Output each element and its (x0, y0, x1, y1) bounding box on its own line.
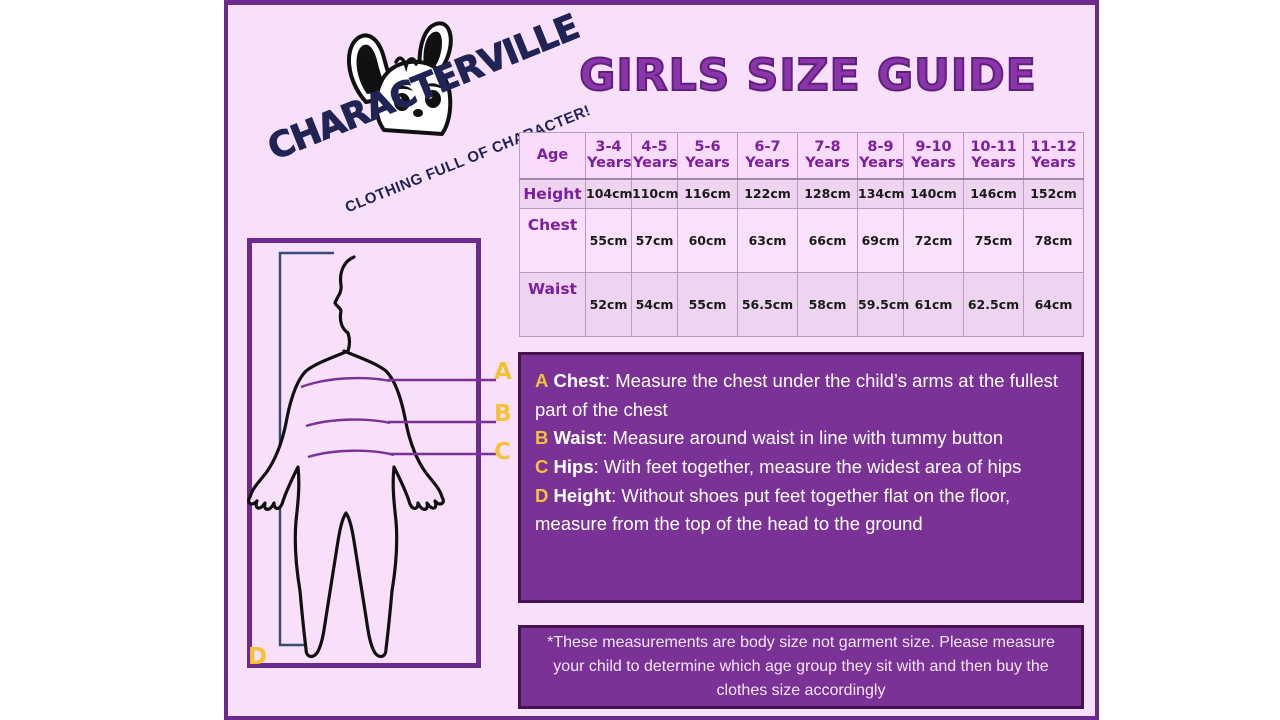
brand-logo: CHARACTERVILLE CLOTHING FULL OF CHARACTE… (278, 10, 558, 220)
cell-chest-2: 60cm (678, 209, 738, 273)
cell-waist-3: 56.5cm (738, 273, 798, 337)
cell-chest-5: 69cm (858, 209, 904, 273)
marker-label-a: A (494, 359, 512, 385)
cell-waist-7: 62.5cm (964, 273, 1024, 337)
column-header-6-7: 6-7 Years (738, 133, 798, 179)
marker-label-c: C (494, 439, 511, 465)
instruction-text-chest: : Measure the chest under the child’s ar… (535, 370, 1058, 420)
column-header-9-10: 9-10 Years (904, 133, 964, 179)
marker-label-b: B (494, 401, 512, 427)
instruction-text-waist: : Measure around waist in line with tumm… (602, 427, 1003, 448)
cell-chest-1: 57cm (632, 209, 678, 273)
column-header-7-8: 7-8 Years (798, 133, 858, 179)
instruction-term-waist: Waist (554, 427, 603, 448)
column-header-3-4: 3-4 Years (586, 133, 632, 179)
column-header-10-11: 10-11 Years (964, 133, 1024, 179)
cell-chest-3: 63cm (738, 209, 798, 273)
cell-height-5: 134cm (858, 179, 904, 209)
measurement-instructions-box: A Chest: Measure the chest under the chi… (518, 352, 1084, 603)
instruction-key-c: C (535, 456, 548, 477)
instruction-text-hips: : With feet together, measure the widest… (594, 456, 1022, 477)
cell-chest-0: 55cm (586, 209, 632, 273)
instruction-waist: B Waist: Measure around waist in line wi… (535, 424, 1067, 453)
cell-waist-8: 64cm (1024, 273, 1084, 337)
cell-height-7: 146cm (964, 179, 1024, 209)
cell-height-0: 104cm (586, 179, 632, 209)
cell-waist-5: 59.5cm (858, 273, 904, 337)
table-row-chest: Chest 55cm 57cm 60cm 63cm 66cm 69cm 72cm… (520, 209, 1084, 273)
cell-chest-8: 78cm (1024, 209, 1084, 273)
cell-waist-2: 55cm (678, 273, 738, 337)
column-header-age: Age (520, 133, 586, 179)
cell-chest-6: 72cm (904, 209, 964, 273)
instruction-key-a: A (535, 370, 548, 391)
page-title: GIRLS SIZE GUIDE (528, 50, 1088, 101)
instruction-key-b: B (535, 427, 548, 448)
column-header-11-12: 11-12 Years (1024, 133, 1084, 179)
cell-height-2: 116cm (678, 179, 738, 209)
marker-label-d: D (248, 644, 267, 670)
instruction-term-hips: Hips (554, 456, 594, 477)
size-guide-poster: CHARACTERVILLE CLOTHING FULL OF CHARACTE… (224, 0, 1099, 720)
cell-waist-0: 52cm (586, 273, 632, 337)
table-row-waist: Waist 52cm 54cm 55cm 56.5cm 58cm 59.5cm … (520, 273, 1084, 337)
footnote-text: *These measurements are body size not ga… (537, 631, 1065, 703)
instruction-term-chest: Chest (554, 370, 605, 391)
cell-chest-7: 75cm (964, 209, 1024, 273)
column-header-8-9: 8-9 Years (858, 133, 904, 179)
row-label-height: Height (520, 179, 586, 209)
cell-height-8: 152cm (1024, 179, 1084, 209)
cell-chest-4: 66cm (798, 209, 858, 273)
row-label-waist: Waist (520, 273, 586, 337)
cell-height-4: 128cm (798, 179, 858, 209)
size-chart-table: Age 3-4 Years 4-5 Years 5-6 Years 6-7 Ye… (519, 132, 1084, 337)
instruction-term-height: Height (554, 485, 612, 506)
instruction-hips: C Hips: With feet together, measure the … (535, 453, 1067, 482)
cell-height-3: 122cm (738, 179, 798, 209)
instruction-height: D Height: Without shoes put feet togethe… (535, 482, 1067, 539)
cell-height-1: 110cm (632, 179, 678, 209)
table-header-row: Age 3-4 Years 4-5 Years 5-6 Years 6-7 Ye… (520, 133, 1084, 179)
cell-waist-6: 61cm (904, 273, 964, 337)
footnote-box: *These measurements are body size not ga… (518, 625, 1084, 709)
cell-waist-4: 58cm (798, 273, 858, 337)
cell-waist-1: 54cm (632, 273, 678, 337)
row-label-chest: Chest (520, 209, 586, 273)
instruction-chest: A Chest: Measure the chest under the chi… (535, 367, 1067, 424)
column-header-5-6: 5-6 Years (678, 133, 738, 179)
table-row-height: Height 104cm 110cm 116cm 122cm 128cm 134… (520, 179, 1084, 209)
instruction-key-d: D (535, 485, 548, 506)
column-header-4-5: 4-5 Years (632, 133, 678, 179)
cell-height-6: 140cm (904, 179, 964, 209)
body-measurement-figure (238, 241, 508, 671)
